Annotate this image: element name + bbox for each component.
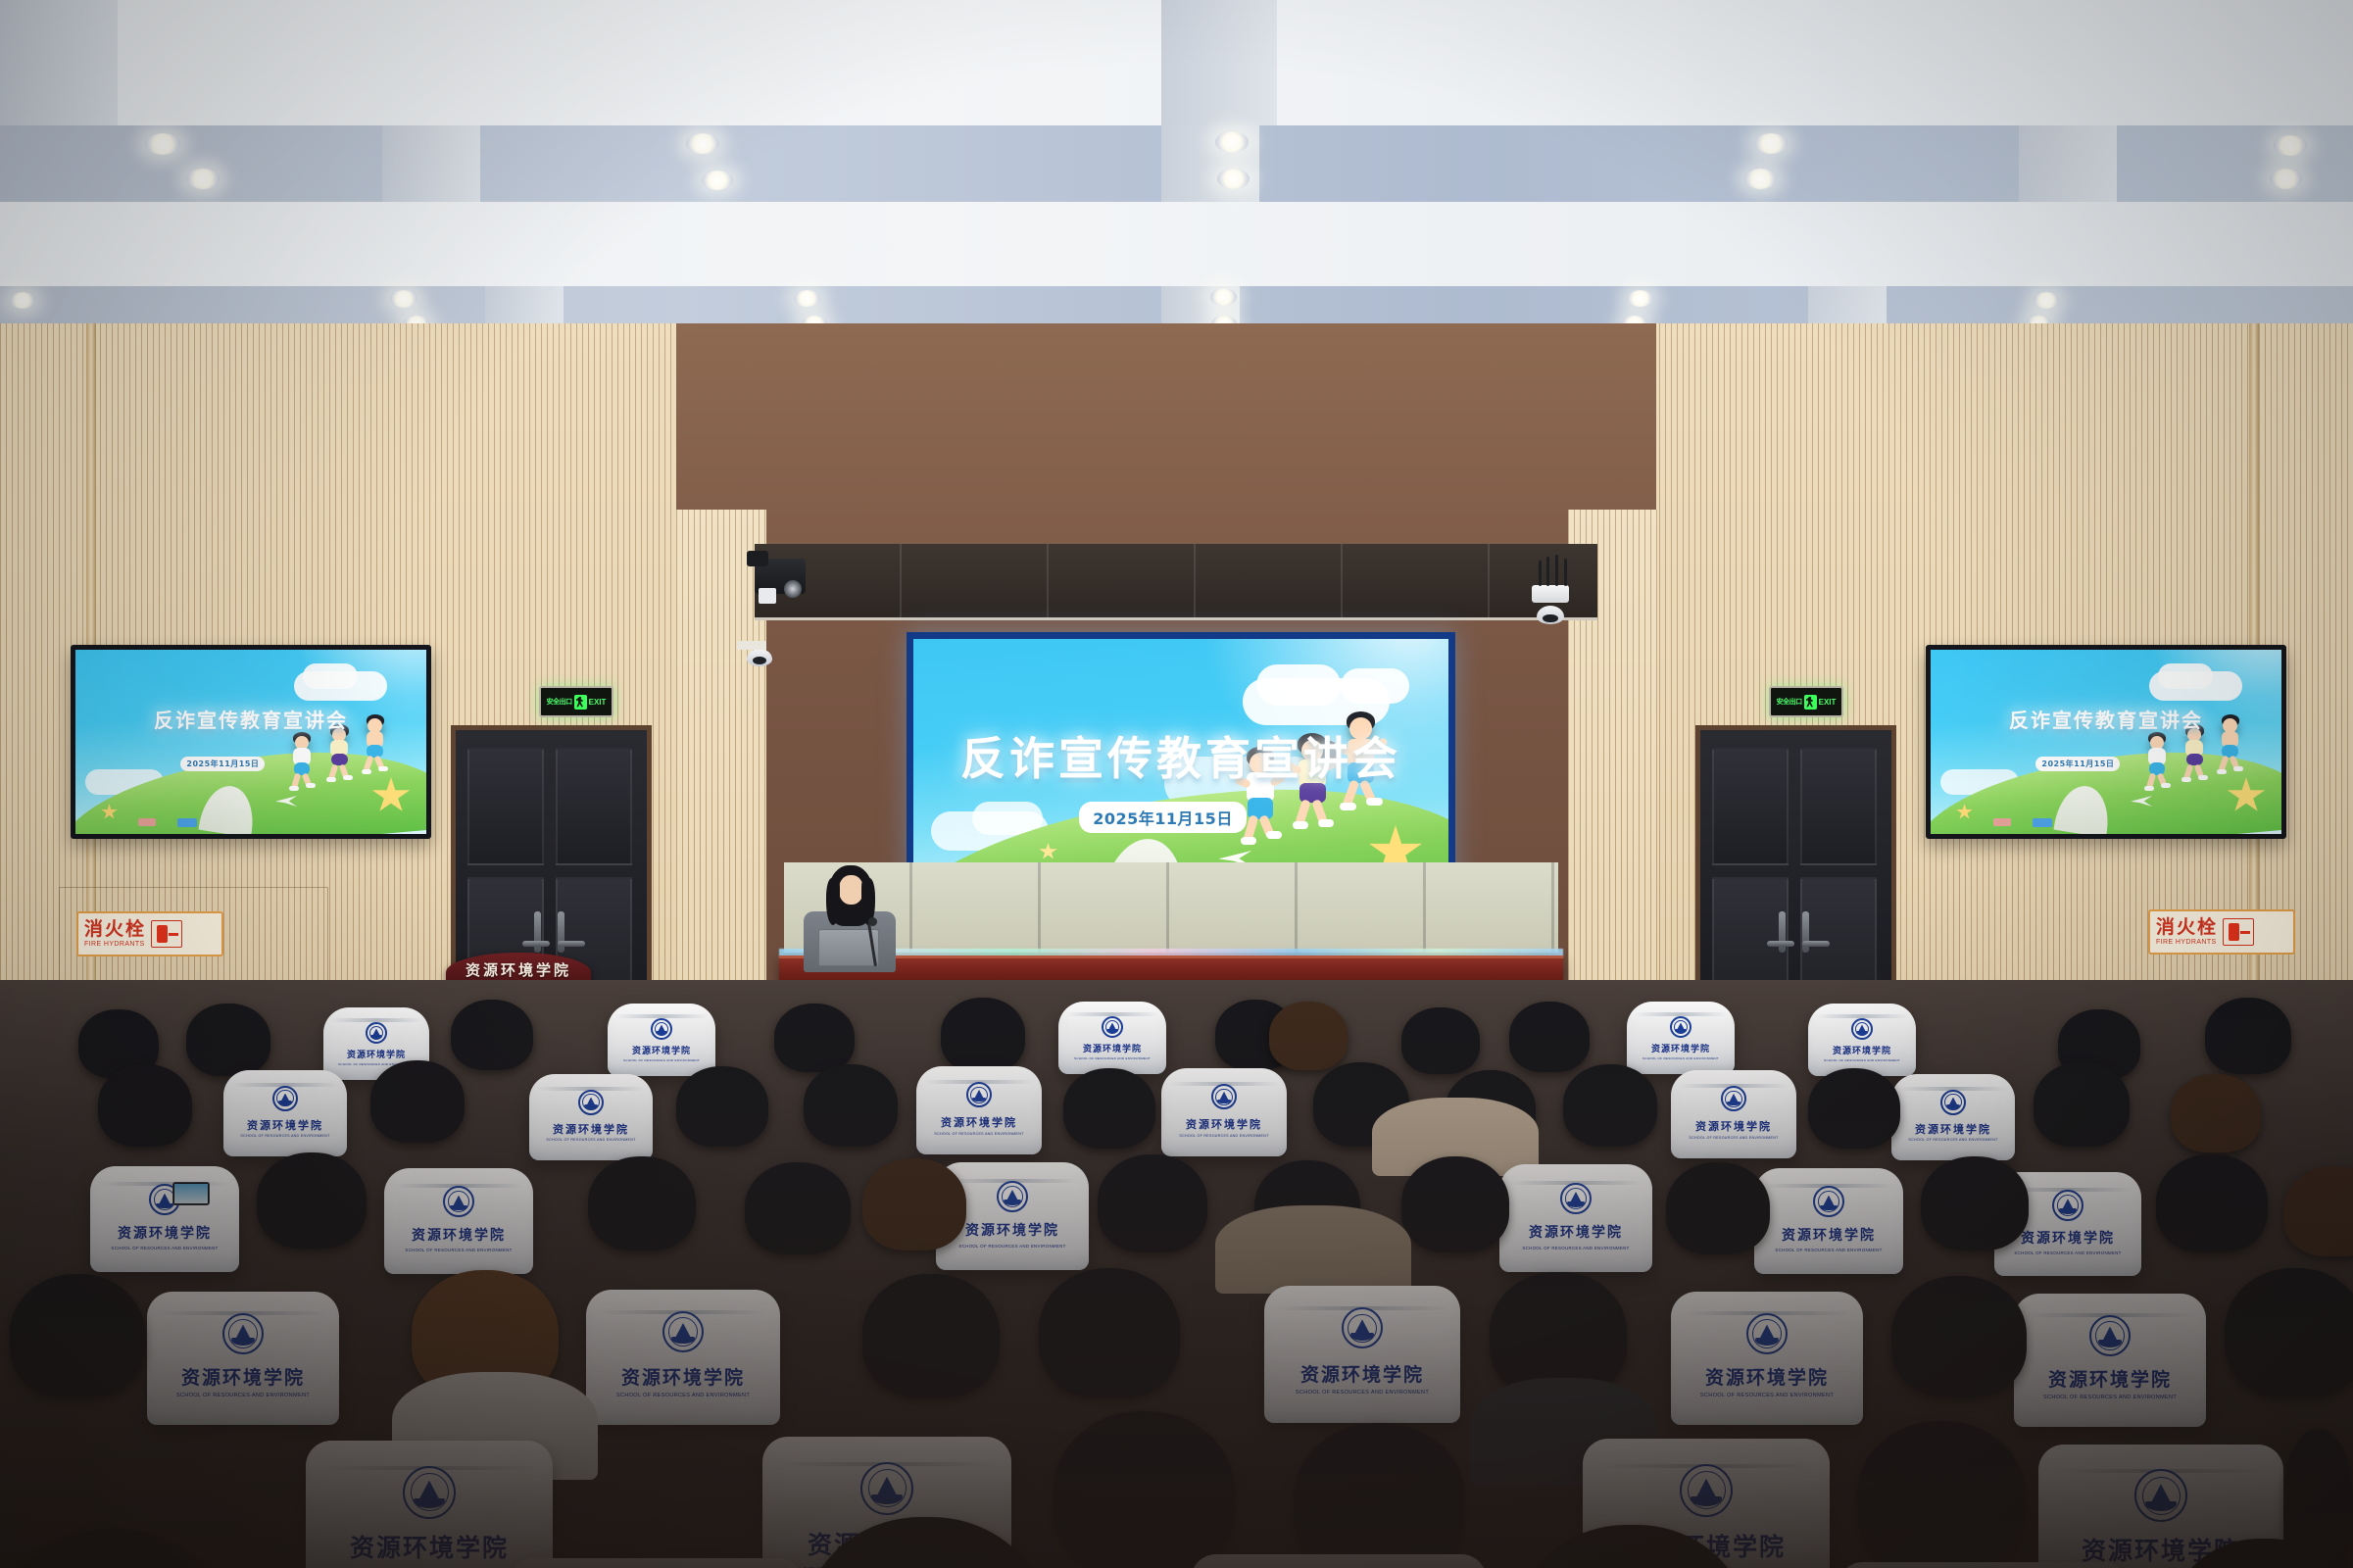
audience-seating: 资源环境学院 SCHOOL OF RESOURCES AND ENVIRONME…	[0, 980, 2353, 1568]
audience-head	[2205, 998, 2291, 1074]
left-wall-tv[interactable]: 反诈宣传教育宣讲会 2025年11月15日	[71, 645, 431, 839]
ceiling-downlight	[702, 171, 733, 190]
audience-head	[1563, 1064, 1657, 1147]
chair[interactable]: 资源环境学院 SCHOOL OF RESOURCES AND ENVIRONME…	[1891, 1074, 2015, 1160]
projector-camera	[755, 559, 806, 594]
chair[interactable]: 资源环境学院 SCHOOL OF RESOURCES AND ENVIRONME…	[1058, 1002, 1166, 1074]
chair-label-cn: 资源环境学院	[90, 1223, 239, 1243]
chair[interactable]: 资源环境学院 SCHOOL OF RESOURCES AND ENVIRONME…	[1264, 1286, 1460, 1423]
chair-label-cn: 资源环境学院	[1671, 1118, 1796, 1134]
chair-label-cn: 资源环境学院	[323, 1048, 429, 1060]
audience-head	[451, 1000, 533, 1070]
chair[interactable]: 资源环境学院 SCHOOL OF RESOURCES AND ENVIRONME…	[1191, 1554, 1487, 1568]
left-tv-date: 2025年11月15日	[180, 757, 265, 771]
chair-label-cn: 资源环境学院	[1499, 1222, 1652, 1242]
chair[interactable]: 资源环境学院 SCHOOL OF RESOURCES AND ENVIRONME…	[1838, 1562, 2130, 1568]
chair[interactable]: 资源环境学院 SCHOOL OF RESOURCES AND ENVIRONME…	[1671, 1292, 1863, 1425]
audience-head	[10, 1274, 145, 1397]
chair-label-cn: 资源环境学院	[586, 1363, 780, 1390]
hydrant-icon	[2223, 918, 2254, 946]
audience-head	[257, 1152, 367, 1249]
audience-head	[1039, 1268, 1180, 1397]
audience-head	[1891, 1276, 2027, 1397]
chair[interactable]: 资源环境学院 SCHOOL OF RESOURCES AND ENVIRONME…	[1754, 1168, 1903, 1274]
audience-head	[862, 1274, 1000, 1397]
chair-label-en: SCHOOL OF RESOURCES AND ENVIRONMENT	[1891, 1138, 2015, 1142]
lecture-hall-photo: 反诈宣传教育宣讲会 2025年11月15日	[0, 0, 2353, 1568]
audience-head	[1921, 1156, 2029, 1250]
chair-label-cn: 资源环境学院	[1627, 1042, 1735, 1054]
ceiling-downlight	[2034, 292, 2059, 309]
audience-shoulders	[1215, 1205, 1411, 1294]
chair[interactable]: 资源环境学院 SCHOOL OF RESOURCES AND ENVIRONME…	[1499, 1164, 1652, 1272]
audience-head	[804, 1064, 898, 1147]
exit-sign-label-en: EXIT	[1819, 698, 1837, 707]
ceiling-downlight	[794, 290, 820, 307]
chair-label-en: SCHOOL OF RESOURCES AND ENVIRONMENT	[1808, 1058, 1916, 1062]
chair-label-cn: 资源环境学院	[1058, 1042, 1166, 1054]
exit-sign-label-cn: 安全出口	[1777, 697, 1802, 707]
ceiling-downlight	[1210, 288, 1237, 306]
hydrant-icon	[151, 920, 182, 948]
chair-label-en: SCHOOL OF RESOURCES AND ENVIRONMENT	[1754, 1248, 1903, 1252]
left-fire-hydrant-sign: 消火栓 FIRE HYDRANTS	[76, 911, 223, 956]
audience-head	[1063, 1068, 1155, 1149]
right-tv-date: 2025年11月15日	[2035, 757, 2120, 771]
microphone-head-icon	[868, 917, 877, 926]
audience-head	[1098, 1154, 1207, 1252]
audience-head	[1401, 1156, 1509, 1252]
left-exit-sign: 安全出口 EXIT	[539, 686, 613, 717]
chair[interactable]: 资源环境学院 SCHOOL OF RESOURCES AND ENVIRONME…	[90, 1166, 239, 1272]
audience-head	[1054, 1411, 1235, 1568]
chair-label-cn: 资源环境学院	[1754, 1225, 1903, 1245]
chair-label-en: SCHOOL OF RESOURCES AND ENVIRONMENT	[1058, 1056, 1166, 1060]
main-screen-title: 反诈宣传教育宣讲会	[913, 723, 1448, 788]
fire-hydrant-label-en: FIRE HYDRANTS	[84, 941, 146, 948]
chair-label-en: SCHOOL OF RESOURCES AND ENVIRONMENT	[529, 1138, 653, 1142]
ceiling-downlight	[1754, 133, 1788, 154]
chair[interactable]: 资源环境学院 SCHOOL OF RESOURCES AND ENVIRONME…	[306, 1441, 553, 1568]
running-person-icon	[574, 695, 587, 710]
ceiling-downlight	[2274, 135, 2307, 156]
door-handle[interactable]	[558, 941, 585, 947]
audience-head	[1857, 1421, 2026, 1568]
door-handle[interactable]	[1767, 941, 1794, 947]
chair-label-en: SCHOOL OF RESOURCES AND ENVIRONMENT	[586, 1393, 780, 1398]
chair-label-en: SCHOOL OF RESOURCES AND ENVIRONMENT	[1264, 1390, 1460, 1396]
dome-camera	[747, 649, 772, 666]
chair[interactable]: 资源环境学院 SCHOOL OF RESOURCES AND ENVIRONME…	[1161, 1068, 1287, 1156]
chair-label-cn: 资源环境学院	[608, 1044, 715, 1056]
chair-label-cn: 资源环境学院	[1264, 1360, 1460, 1387]
audience-head	[1401, 1007, 1480, 1074]
chair-label-cn: 资源环境学院	[1671, 1363, 1863, 1390]
chair-label-en: SCHOOL OF RESOURCES AND ENVIRONMENT	[608, 1058, 715, 1062]
smartphone[interactable]	[172, 1182, 210, 1205]
audience-head	[1808, 1068, 1900, 1149]
fire-hydrant-label-en: FIRE HYDRANTS	[2156, 939, 2218, 946]
chair[interactable]: 资源环境学院 SCHOOL OF RESOURCES AND ENVIRONME…	[1808, 1004, 1916, 1076]
ceiling-downlight	[10, 292, 35, 309]
right-tv-title: 反诈宣传教育宣讲会	[1931, 705, 2281, 733]
ceiling-downlight	[686, 133, 719, 154]
chair-label-cn: 资源环境学院	[916, 1114, 1042, 1130]
audience-head	[2283, 1166, 2353, 1256]
chair-label-cn: 资源环境学院	[1891, 1121, 2015, 1137]
audience-head	[745, 1162, 851, 1254]
chair-label-en: SCHOOL OF RESOURCES AND ENVIRONMENT	[1627, 1056, 1735, 1060]
chair[interactable]: 资源环境学院 SCHOOL OF RESOURCES AND ENVIRONME…	[586, 1290, 780, 1425]
ceiling-downlight	[390, 290, 417, 308]
audience-head	[2171, 1074, 2261, 1152]
audience-head	[370, 1060, 465, 1143]
chair[interactable]: 资源环境学院 SCHOOL OF RESOURCES AND ENVIRONME…	[529, 1074, 653, 1160]
podium-nameplate-label: 资源环境学院	[466, 959, 571, 980]
antenna-icon	[1546, 557, 1549, 586]
chair-label-cn: 资源环境学院	[384, 1225, 533, 1245]
chair-label-en: SCHOOL OF RESOURCES AND ENVIRONMENT	[1161, 1134, 1287, 1138]
signal-jammer	[1532, 585, 1569, 603]
chair-label-cn: 资源环境学院	[529, 1121, 653, 1137]
antenna-icon	[1555, 555, 1558, 586]
exit-sign-label-en: EXIT	[589, 698, 607, 707]
audience-head	[2156, 1154, 2268, 1252]
ceiling-downlight	[1217, 169, 1250, 189]
antenna-icon	[1564, 559, 1567, 586]
chair[interactable]: 资源环境学院 SCHOOL OF RESOURCES AND ENVIRONME…	[608, 1004, 715, 1076]
stage-back-panel	[784, 862, 1558, 953]
exit-sign-label-cn: 安全出口	[547, 697, 572, 707]
right-wall-tv[interactable]: 反诈宣传教育宣讲会 2025年11月15日	[1926, 645, 2286, 839]
running-person-icon	[1804, 695, 1817, 710]
ceiling-downlight	[145, 133, 180, 155]
chair-label-en: SCHOOL OF RESOURCES AND ENVIRONMENT	[90, 1246, 239, 1250]
chair-label-en: SCHOOL OF RESOURCES AND ENVIRONMENT	[1994, 1250, 2141, 1255]
audience-head	[2225, 1268, 2353, 1397]
audience-head	[98, 1064, 192, 1147]
chair-label-en: SCHOOL OF RESOURCES AND ENVIRONMENT	[1671, 1393, 1863, 1398]
audience-head	[941, 998, 1025, 1072]
audience-head	[676, 1066, 768, 1147]
chair-label-cn: 资源环境学院	[1161, 1116, 1287, 1132]
chair-label-cn: 资源环境学院	[1808, 1044, 1916, 1056]
door-handle[interactable]	[522, 941, 550, 947]
chair[interactable]: 资源环境学院 SCHOOL OF RESOURCES AND ENVIRONME…	[384, 1168, 533, 1274]
chair-label-cn: 资源环境学院	[2014, 1365, 2206, 1392]
dome-camera	[1537, 606, 1564, 624]
chair-label-en: SCHOOL OF RESOURCES AND ENVIRONMENT	[223, 1134, 347, 1138]
chair-label-en: SCHOOL OF RESOURCES AND ENVIRONMENT	[2014, 1395, 2206, 1400]
ceiling-downlight	[1744, 169, 1777, 189]
ceiling-downlight	[2270, 169, 2302, 189]
chair-label-en: SCHOOL OF RESOURCES AND ENVIRONMENT	[916, 1132, 1042, 1136]
chair-label-cn: 资源环境学院	[223, 1117, 347, 1133]
chair[interactable]: 资源环境学院 SCHOOL OF RESOURCES AND ENVIRONME…	[2014, 1294, 2206, 1427]
fire-hydrant-label-cn: 消火栓	[84, 920, 146, 939]
door-handle[interactable]	[1802, 941, 1830, 947]
chair-label-cn: 资源环境学院	[147, 1363, 339, 1390]
chair[interactable]: 资源环境学院 SCHOOL OF RESOURCES AND ENVIRONME…	[1671, 1070, 1796, 1158]
chair[interactable]: 资源环境学院 SCHOOL OF RESOURCES AND ENVIRONME…	[916, 1066, 1042, 1154]
right-exit-sign: 安全出口 EXIT	[1769, 686, 1843, 717]
chair-label-en: SCHOOL OF RESOURCES AND ENVIRONMENT	[1499, 1246, 1652, 1250]
ceiling-downlight	[186, 169, 220, 189]
chair[interactable]: 资源环境学院 SCHOOL OF RESOURCES AND ENVIRONME…	[1627, 1002, 1735, 1074]
audience-head	[186, 1004, 270, 1076]
chair-label-en: SCHOOL OF RESOURCES AND ENVIRONMENT	[147, 1393, 339, 1398]
fire-hydrant-label-cn: 消火栓	[2156, 918, 2218, 937]
audience-head	[0, 1529, 225, 1568]
right-fire-hydrant-sign: 消火栓 FIRE HYDRANTS	[2148, 909, 2295, 955]
chair-label-en: SCHOOL OF RESOURCES AND ENVIRONMENT	[936, 1244, 1089, 1249]
ceiling-downlight	[1215, 131, 1249, 153]
chair-label-en: SCHOOL OF RESOURCES AND ENVIRONMENT	[384, 1248, 533, 1252]
audience-head	[1294, 1423, 1465, 1568]
audience-head	[1666, 1162, 1770, 1254]
left-tv-title: 反诈宣传教育宣讲会	[75, 705, 426, 733]
chair-label-en: SCHOOL OF RESOURCES AND ENVIRONMENT	[1671, 1136, 1796, 1140]
audience-head	[588, 1156, 696, 1250]
chair[interactable]: 资源环境学院 SCHOOL OF RESOURCES AND ENVIRONME…	[223, 1070, 347, 1156]
audience-head	[1509, 1002, 1590, 1072]
audience-head	[862, 1158, 966, 1250]
chair[interactable]: 资源环境学院 SCHOOL OF RESOURCES AND ENVIRONME…	[147, 1292, 339, 1425]
audience-head	[2034, 1062, 2130, 1147]
main-screen-date: 2025年11月15日	[1079, 802, 1247, 833]
ceiling-downlight	[1627, 290, 1653, 307]
stage-header-band	[755, 544, 1597, 620]
stage-left-column	[676, 510, 766, 1058]
chair[interactable]: 资源环境学院 SCHOOL OF RESOURCES AND ENVIRONME…	[510, 1558, 804, 1568]
audience-head	[774, 1004, 855, 1072]
antenna-icon	[1539, 561, 1542, 586]
audience-head	[1269, 1002, 1348, 1070]
